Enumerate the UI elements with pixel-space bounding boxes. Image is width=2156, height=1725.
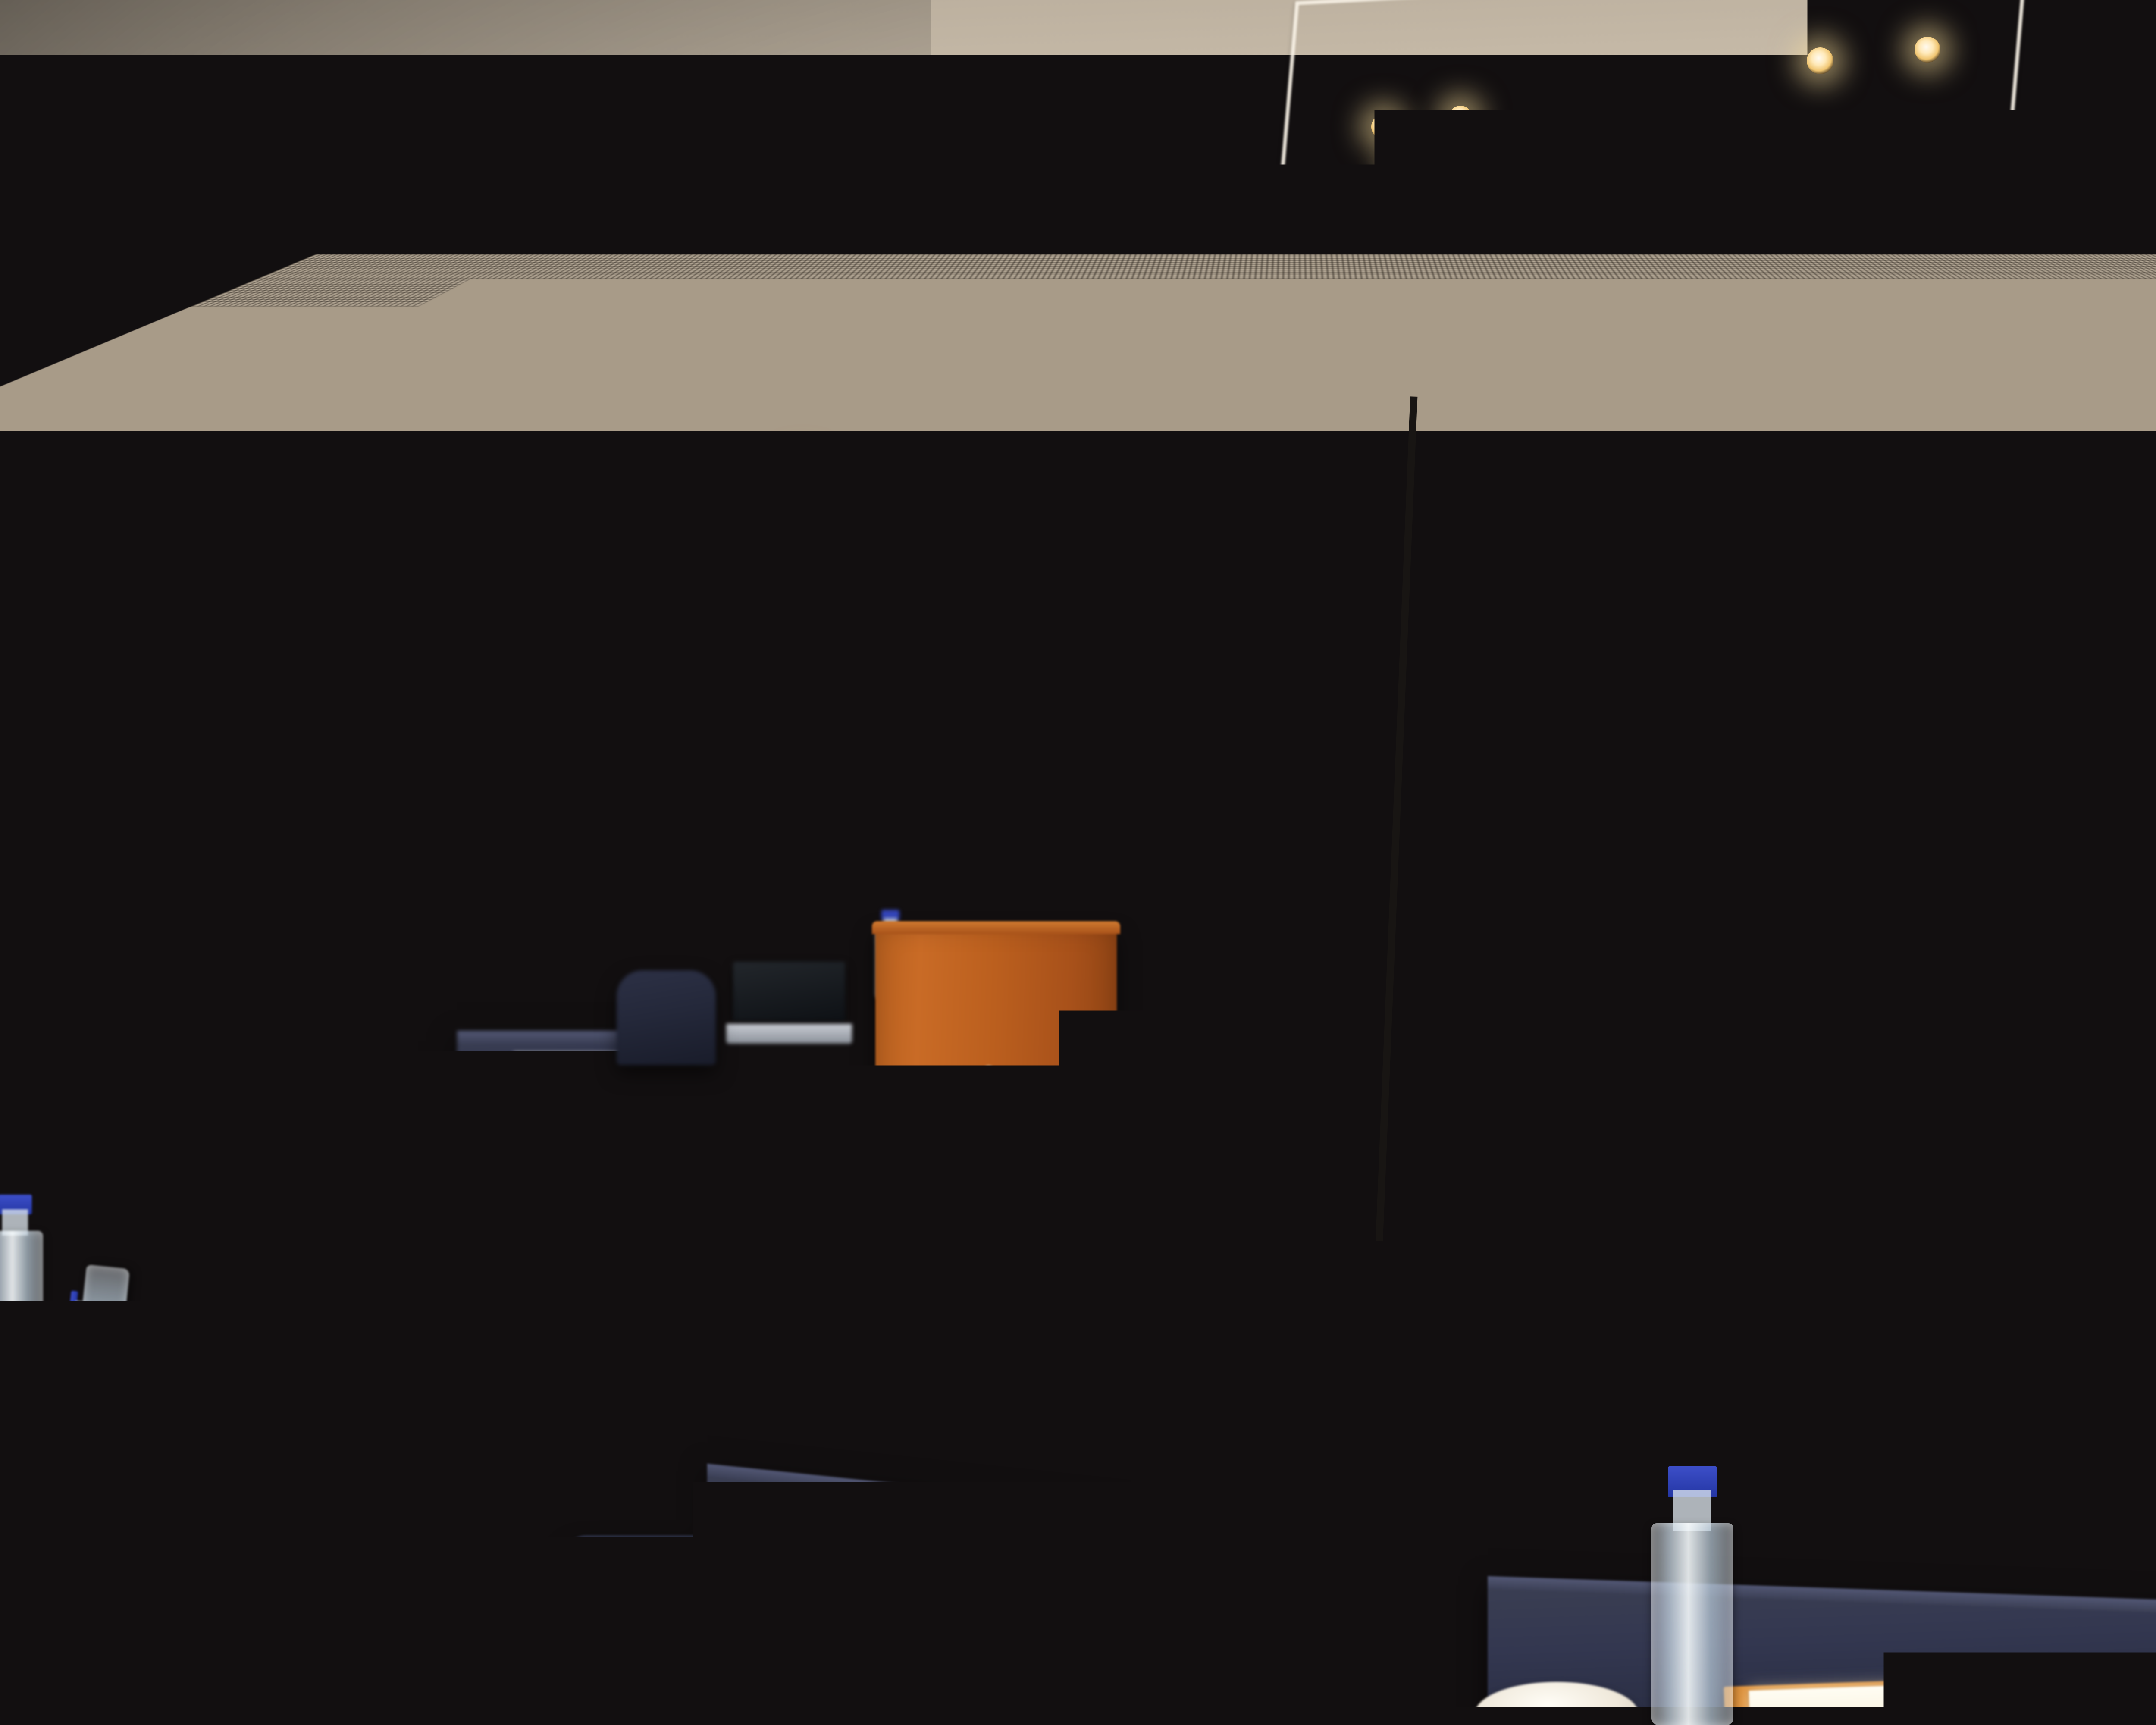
- presenter-glasses: [365, 756, 434, 758]
- recessed-spotlight: [1371, 114, 1396, 139]
- chair: [561, 1535, 837, 1725]
- chair: [436, 1156, 573, 1311]
- bottle-body: [280, 1063, 322, 1160]
- chair: [612, 983, 716, 1082]
- wall-pillar: [617, 457, 737, 1026]
- desk-paper: [1749, 1682, 1982, 1725]
- projector-frame-top-left: [216, 0, 500, 72]
- recessed-spotlight: [591, 280, 616, 305]
- laptop-base: [726, 1024, 852, 1044]
- projector-vent-grille: [538, 97, 659, 184]
- ac-grille: [738, 111, 1055, 303]
- desk-paper: [1764, 1328, 1937, 1403]
- desk-folder: [1746, 1323, 1953, 1416]
- presentation-slide: Table of contents 1. First order nonline…: [1474, 490, 2156, 1174]
- ceiling-speaker: [470, 500, 586, 660]
- laptop-lid: [733, 962, 845, 1021]
- desk-paper: [1009, 1565, 1260, 1687]
- recessed-spotlight: [1449, 106, 1472, 129]
- recessed-spotlight: [1445, 149, 1470, 175]
- saucer-plate: [116, 1345, 246, 1397]
- ceiling-tile-frame: [1501, 128, 2156, 364]
- doorway-interior-shelf: [1094, 819, 1194, 870]
- bottle-body: [1651, 1523, 1733, 1725]
- water-bottle-foreground: [1651, 1466, 1733, 1725]
- curtain: [0, 485, 85, 969]
- presenter-hand-right: [462, 942, 516, 973]
- recessed-spotlight: [1915, 37, 1940, 63]
- recessed-spotlight: [962, 4, 990, 33]
- wall-art-panel: [1220, 505, 1393, 781]
- projector-mount: [216, 0, 711, 276]
- desk-paper: [675, 1180, 831, 1255]
- recessed-spotlight: [918, 216, 945, 242]
- recessed-spotlight: [862, 224, 891, 253]
- recessed-spotlight: [1807, 47, 1833, 74]
- podium-top: [872, 921, 1121, 934]
- toc-item-1: 1. First order nonlinear consensus model: [1509, 633, 2150, 674]
- speaker-led: [505, 627, 523, 637]
- chair: [746, 1264, 927, 1466]
- toc-item-2: 2. Structure preserving stochastic pertu…: [1506, 702, 2147, 743]
- projector-frame-top-right: [492, 0, 716, 36]
- slide-toc-list: 1. First order nonlinear consensus model…: [1501, 633, 2150, 860]
- water-bottle: [280, 1035, 322, 1160]
- toc-item-3: 3. Clustering dynamics of the stochastic…: [1504, 771, 2145, 812]
- desk-paper: [1054, 1239, 1229, 1325]
- projector-cable-tip: [384, 168, 415, 176]
- projector-frame-right: [703, 11, 714, 217]
- bottle-body: [0, 1231, 43, 1358]
- recessed-spotlight: [1393, 155, 1420, 182]
- recessed-spotlight: [108, 190, 136, 218]
- glass-door-left: [0, 479, 91, 975]
- ac-vane: [1073, 98, 1105, 292]
- presenter-laptop: [733, 962, 845, 1044]
- recessed-spotlight: [888, 0, 919, 27]
- projector-frame-left: [216, 40, 230, 253]
- glass-reflection: [174, 573, 186, 927]
- seminar-room-photo: S Table of contents: [0, 0, 2156, 1725]
- projector-cable-tip: [367, 160, 393, 167]
- water-bottle: [0, 1195, 43, 1358]
- podium-knob: [983, 1065, 994, 1076]
